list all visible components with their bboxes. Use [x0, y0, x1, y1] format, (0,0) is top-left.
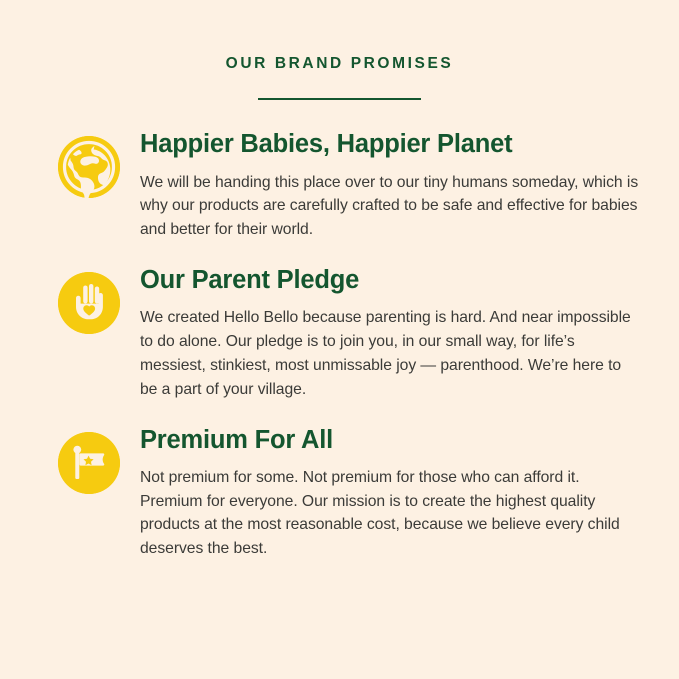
promise-body: We will be handing this place over to ou… — [140, 171, 639, 243]
list-item: Happier Babies, Happier Planet We will b… — [58, 130, 639, 243]
header-divider-wrap — [0, 98, 679, 100]
promise-title: Happier Babies, Happier Planet — [140, 130, 639, 158]
promise-text-column: Happier Babies, Happier Planet We will b… — [120, 130, 639, 243]
promise-body: We created Hello Bello because parenting… — [140, 306, 639, 401]
brand-promises-page: OUR BRAND PROMISES — [0, 0, 679, 679]
globe-icon — [58, 136, 120, 198]
promise-icon-column — [58, 266, 120, 334]
header-divider — [258, 98, 421, 100]
page-header: OUR BRAND PROMISES — [0, 0, 679, 100]
promise-text-column: Our Parent Pledge We created Hello Bello… — [120, 266, 639, 401]
page-title: OUR BRAND PROMISES — [0, 56, 679, 72]
promises-list: Happier Babies, Happier Planet We will b… — [0, 130, 679, 562]
promise-text-column: Premium For All Not premium for some. No… — [120, 426, 639, 561]
promise-body: Not premium for some. Not premium for th… — [140, 466, 639, 561]
promise-title: Our Parent Pledge — [140, 266, 639, 294]
hand-heart-icon — [58, 272, 120, 334]
list-item: Our Parent Pledge We created Hello Bello… — [58, 266, 639, 401]
list-item: Premium For All Not premium for some. No… — [58, 426, 639, 561]
flag-star-icon — [58, 432, 120, 494]
promise-icon-column — [58, 426, 120, 494]
promise-icon-column — [58, 130, 120, 198]
promise-title: Premium For All — [140, 426, 639, 454]
